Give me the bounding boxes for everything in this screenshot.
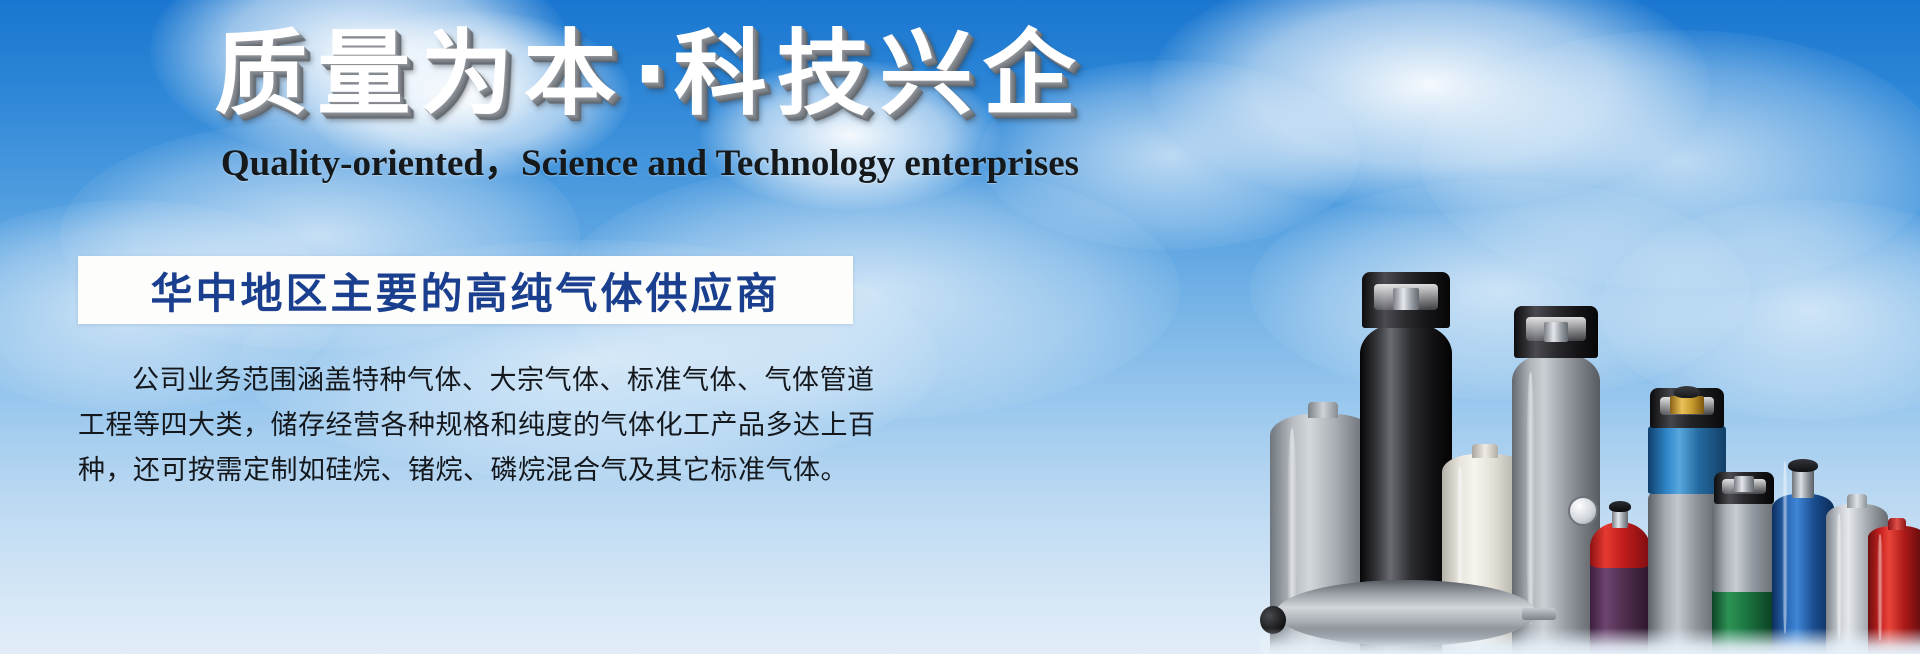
cylinder-neck <box>1472 444 1498 458</box>
tank-nozzle <box>1522 608 1556 620</box>
cylinder-valve <box>1792 468 1814 498</box>
paragraph-line: 公司业务范围涵盖特种气体、大宗气体、标准气体、气体管道 <box>78 358 868 403</box>
gas-cylinder-lineup-image <box>1260 134 1920 654</box>
ground-fade <box>1260 628 1920 654</box>
cylinder-valve <box>1393 288 1419 310</box>
headline-right: 科技兴企 <box>674 20 1086 128</box>
brass-valve <box>1670 396 1704 414</box>
green-grey-cylinder <box>1712 469 1776 654</box>
description-paragraph: 公司业务范围涵盖特种气体、大宗气体、标准气体、气体管道 工程等四大类，储存经营各… <box>78 358 868 493</box>
headline-text: 质量为本·科技兴企 <box>0 24 1300 124</box>
cylinder-neck <box>1308 402 1338 418</box>
cylinder-shoulder <box>1590 522 1650 568</box>
pressure-gauge <box>1568 496 1598 526</box>
cylinder-valve <box>1544 322 1568 342</box>
cylinder-neck <box>1847 494 1867 508</box>
paragraph-line: 工程等四大类，储存经营各种规格和纯度的气体化工产品多达上百 <box>78 403 868 448</box>
callout-text: 华中地区主要的高纯气体供应商 <box>150 260 780 321</box>
promotional-banner: 质量为本·科技兴企 Quality-oriented，Science and T… <box>0 0 1920 654</box>
cylinder-neck <box>1888 518 1906 530</box>
paragraph-line: 种，还可按需定制如硅烷、锗烷、磷烷混合气及其它标准气体。 <box>78 448 868 493</box>
cylinder-upper <box>1712 500 1776 592</box>
valve-knob <box>1788 459 1818 472</box>
valve-knob <box>1609 501 1631 512</box>
blue-cylinder <box>1772 449 1834 654</box>
headline-block: 质量为本·科技兴企 Quality-oriented，Science and T… <box>0 24 1300 186</box>
valve-knob <box>1674 386 1700 398</box>
headline-left: 质量为本 <box>214 20 626 128</box>
headline-separator: · <box>626 20 673 128</box>
callout-box: 华中地区主要的高纯气体供应商 <box>78 256 853 324</box>
cylinder-valve <box>1734 476 1754 492</box>
subheadline-text: Quality-oriented，Science and Technology … <box>0 132 1300 186</box>
